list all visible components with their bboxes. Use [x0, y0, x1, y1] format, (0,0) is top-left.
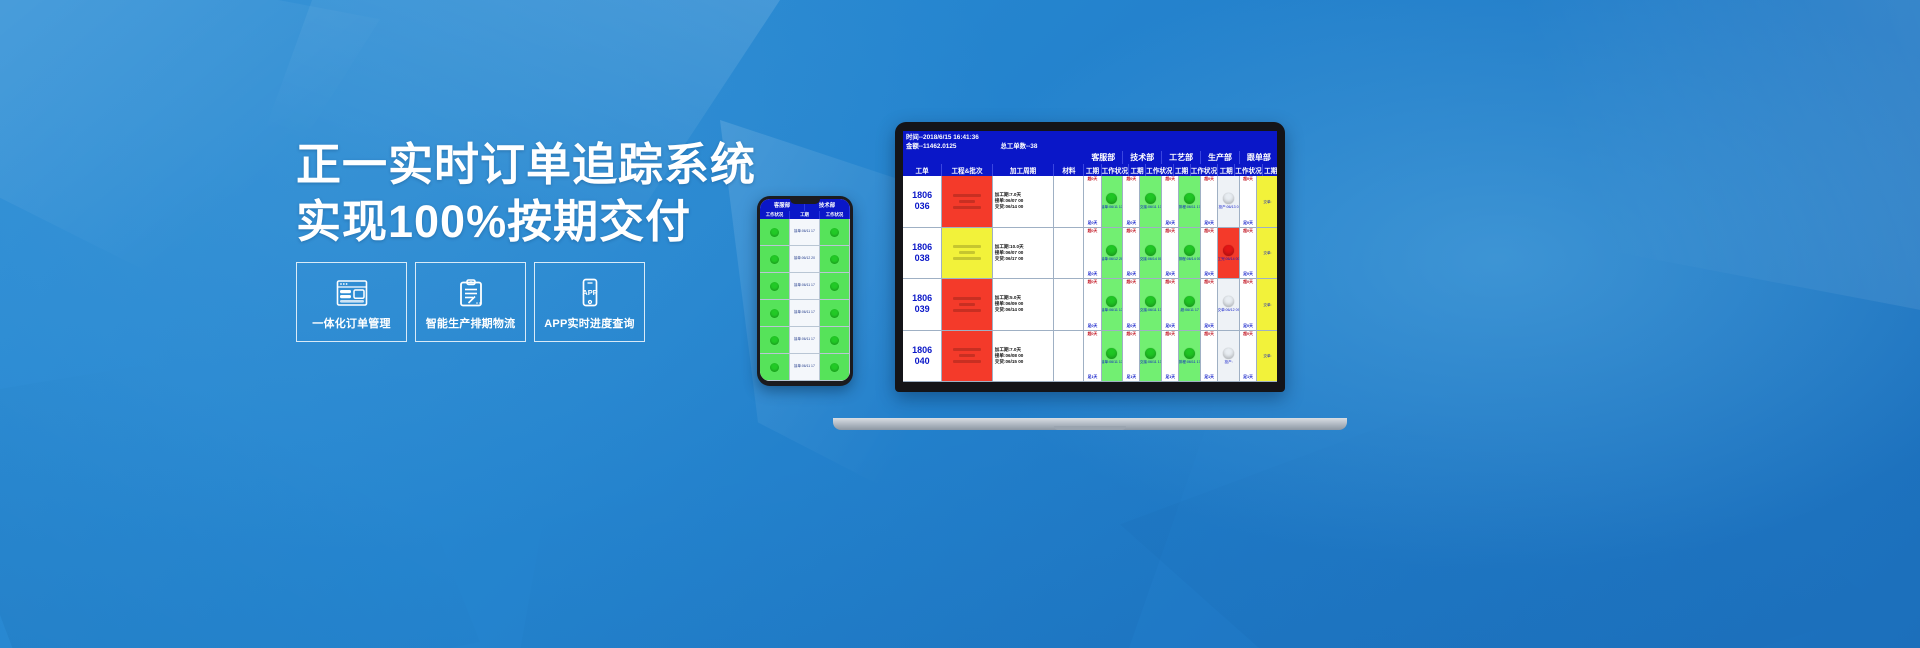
cell-duration-dept4[interactable]: 超0天足0天 [1201, 228, 1218, 279]
cell-duration-dept1[interactable]: 超0天足0天 [1084, 279, 1101, 330]
topbar-line-1: 时间--2018/6/15 16:41:36 [906, 132, 1274, 141]
phone-cell-tag: 接单:06/11 17 [793, 284, 816, 288]
cell-work-status-dept5[interactable]: 交单: [1257, 279, 1277, 330]
order-tracking-dashboard[interactable]: 时间--2018/6/15 16:41:36 金额--11462.0125 总工… [903, 131, 1277, 382]
duration-over: 超0天 [1243, 229, 1253, 234]
duration-over: 超0天 [1165, 332, 1175, 337]
cell-duration-dept5[interactable]: 超0天足0天 [1240, 176, 1257, 227]
cell-work-status-dept2[interactable]: 交接:06/14 00 [1140, 228, 1162, 279]
status-lamp-icon [1145, 296, 1156, 307]
feature-card-app-progress[interactable]: APP APP实时进度查询 [534, 262, 645, 342]
status-lamp-icon [830, 363, 839, 372]
cell-order-number[interactable]: 1806040 [903, 331, 942, 382]
phone-column-status-2 [820, 219, 850, 381]
status-note: 接单:06/11 17 [1102, 205, 1123, 209]
status-note: 交单:06/12 09 [1218, 308, 1239, 312]
status-note: 排程:06/11 17 [1179, 205, 1200, 209]
phone-cell[interactable] [760, 300, 789, 327]
order-number-top: 1806 [912, 190, 932, 201]
cell-work-status-dept4[interactable]: 投产: [1218, 331, 1240, 382]
status-lamp-icon [1145, 348, 1156, 359]
phone-cell-tag: 接单:06/11 17 [793, 365, 816, 369]
cell-order-number[interactable]: 1806039 [903, 279, 942, 330]
cell-material[interactable] [1054, 176, 1084, 227]
status-note: 交单: [1263, 251, 1271, 255]
status-note: 投产: [1224, 360, 1232, 364]
duration-over: 超0天 [1243, 332, 1253, 337]
cell-material[interactable] [1054, 228, 1084, 279]
status-lamp-icon [770, 282, 779, 291]
duration-over: 超0天 [1088, 177, 1098, 182]
project-text-blurred [953, 348, 981, 351]
status-note: 接单:06/11 17 [1102, 308, 1123, 312]
column-header-dept1-status: 工作状况 [1102, 164, 1129, 176]
duration-remaining: 足0天 [1088, 221, 1098, 226]
cell-work-status-dept1[interactable]: 接单:06/11 17 [1102, 331, 1124, 382]
feature-card-row: 一体化订单管理 智能生产排期物流 APP APP实时进度查询 [296, 262, 645, 342]
duration-remaining: 足0天 [1088, 324, 1098, 329]
duration-over: 超0天 [1204, 177, 1214, 182]
duration-remaining: 足0天 [1243, 324, 1253, 329]
laptop-lid: 时间--2018/6/15 16:41:36 金额--11462.0125 总工… [895, 122, 1285, 392]
cell-order-number[interactable]: 1806038 [903, 228, 942, 279]
cell-work-status-dept5[interactable]: 交单: [1257, 331, 1277, 382]
column-header-row: 工单工程&批次加工周期材料工期工作状况工期工作状况工期工作状况工期工作状况工期工… [903, 164, 1277, 176]
phone-cell-tag: 接单:06/11 17 [793, 230, 816, 234]
phone-data-grid[interactable]: 接单:06/11 17 接单:06/12 20 接单:06/11 17 接单:0… [760, 219, 850, 381]
cell-duration-dept2[interactable]: 超0天足0天 [1123, 228, 1140, 279]
project-text-blurred [953, 360, 981, 363]
topbar-line-2: 金额--11462.0125 总工单数--38 [906, 141, 1274, 150]
status-note: 交接:06/11 17 [1140, 308, 1161, 312]
cell-work-status-dept3[interactable]: 排程:06/11 17 [1179, 331, 1201, 382]
duration-remaining: 足0天 [1126, 272, 1136, 277]
department-header-3: 工艺部 [1162, 151, 1201, 164]
status-lamp-icon [770, 255, 779, 264]
duration-over: 超0天 [1243, 177, 1253, 182]
laptop-mockup: 时间--2018/6/15 16:41:36 金额--11462.0125 总工… [864, 122, 1316, 420]
cycle-line-3: 交货:06/15 00 [995, 359, 1024, 365]
status-lamp-icon [1184, 348, 1195, 359]
mobile-app-icon: APP [573, 278, 607, 308]
duration-over: 超0天 [1088, 332, 1098, 337]
duration-remaining: 足1天 [1126, 375, 1136, 380]
project-text-blurred [959, 251, 975, 254]
headline-block: 正一实时订单追踪系统 实现100%按期交付 [296, 136, 816, 250]
phone-cell[interactable]: 接单:06/11 17 [790, 273, 819, 300]
project-text-blurred [953, 245, 981, 248]
status-lamp-icon [1223, 245, 1234, 256]
table-row[interactable]: 1806039加工期:5.0天接单:06/09 00交货:06/14 00超0天… [903, 279, 1277, 331]
status-lamp-icon [770, 228, 779, 237]
phone-cell[interactable]: 接单:06/12 20 [790, 246, 819, 273]
status-lamp-icon [830, 336, 839, 345]
status-lamp-icon [1145, 193, 1156, 204]
status-lamp-icon [1223, 193, 1234, 204]
status-lamp-icon [830, 228, 839, 237]
duration-remaining: 足0天 [1243, 272, 1253, 277]
duration-remaining: 足0天 [1088, 272, 1098, 277]
department-header-5: 跟单部 [1240, 151, 1277, 164]
status-lamp-icon [1223, 348, 1234, 359]
dashboard-table-body[interactable]: 1806036加工期:7.0天接单:06/07 00交货:06/14 00超0天… [903, 176, 1277, 382]
status-note: 排程:06/11 17 [1179, 360, 1200, 364]
cell-work-status-dept5[interactable]: 交单: [1257, 176, 1277, 227]
project-text-blurred [953, 206, 981, 209]
cell-duration-dept3[interactable]: 超0天足0天 [1162, 228, 1179, 279]
phone-cell[interactable] [820, 354, 849, 381]
duration-over: 超0天 [1165, 280, 1175, 285]
duration-over: 超0天 [1126, 280, 1136, 285]
column-header-dept4-duration: 工期 [1218, 164, 1235, 176]
phone-cell[interactable] [760, 246, 789, 273]
cell-work-status-dept5[interactable]: 交单: [1257, 228, 1277, 279]
order-number-bottom: 040 [915, 356, 930, 367]
phone-cell[interactable] [760, 354, 789, 381]
dashboard-time-label: 时间--2018/6/15 16:41:36 [906, 132, 979, 141]
headline-line-2: 实现100%按期交付 [296, 193, 816, 250]
phone-cell[interactable]: 接单:06/11 17 [790, 300, 819, 327]
cell-work-status-dept4[interactable]: 工完:06/14 00 [1218, 228, 1240, 279]
duration-remaining: 足0天 [1165, 272, 1175, 277]
clipboard-schedule-icon [454, 278, 488, 308]
duration-remaining: 足0天 [1126, 324, 1136, 329]
duration-over: 超0天 [1126, 229, 1136, 234]
duration-remaining: 足1天 [1165, 375, 1175, 380]
status-note: 交接:06/11 17 [1140, 205, 1161, 209]
cycle-line-3: 交货:06/14 00 [995, 307, 1024, 313]
phone-cell[interactable] [820, 273, 849, 300]
order-number-top: 1806 [912, 293, 932, 304]
column-header-2: 工程&批次 [942, 164, 992, 176]
cell-work-status-dept2[interactable]: 交接:06/11 17 [1140, 279, 1162, 330]
background-polygon [0, 330, 480, 648]
status-lamp-icon [1145, 245, 1156, 256]
order-number-top: 1806 [912, 345, 932, 356]
column-header-dept5-duration: 工期 [1263, 164, 1277, 176]
status-note: 交接:06/11 17 [1140, 360, 1161, 364]
cell-duration-dept4[interactable]: 超0天足0天 [1201, 279, 1218, 330]
status-note: 交单: [1263, 303, 1271, 307]
cell-project-batch[interactable] [942, 176, 992, 227]
project-text-blurred [959, 354, 975, 357]
phone-cell[interactable] [820, 300, 849, 327]
cell-duration-dept2[interactable]: 超0天足0天 [1123, 176, 1140, 227]
cell-duration-dept3[interactable]: 超0天足0天 [1162, 279, 1179, 330]
cell-project-batch[interactable] [942, 331, 992, 382]
cell-processing-cycle[interactable]: 加工期:5.0天接单:06/09 00交货:06/14 00 [993, 279, 1055, 330]
cell-processing-cycle[interactable]: 加工期:7.0天接单:06/07 00交货:06/14 00 [993, 176, 1055, 227]
phone-cell[interactable]: 接单:06/11 17 [790, 354, 819, 381]
feature-label: 智能生产排期物流 [426, 315, 516, 331]
phone-cell[interactable] [820, 327, 849, 354]
phone-cell-tag: 接单:06/11 17 [793, 311, 816, 315]
status-note: 交单: [1263, 200, 1271, 204]
cell-duration-dept2[interactable]: 超0天足1天 [1123, 331, 1140, 382]
status-lamp-icon [1184, 296, 1195, 307]
cell-work-status-dept3[interactable]: 排程:06/14 00 [1179, 228, 1201, 279]
duration-remaining: 足0天 [1204, 324, 1214, 329]
duration-over: 超0天 [1126, 332, 1136, 337]
phone-cell[interactable] [820, 246, 849, 273]
order-number-bottom: 039 [915, 304, 930, 315]
dashboard-total-orders-label: 总工单数--38 [1000, 141, 1037, 150]
cell-work-status-dept4[interactable]: 交单:06/12 09 [1218, 279, 1240, 330]
status-note: 投产:06/13 0 [1218, 205, 1238, 209]
column-header-dept2-duration: 工期 [1129, 164, 1146, 176]
dashboard-layout-icon [335, 278, 369, 308]
table-row[interactable]: 1806038加工期:10.0天接单:06/07 00交货:06/17 00超0… [903, 228, 1277, 280]
duration-over: 超0天 [1204, 332, 1214, 337]
duration-remaining: 足1天 [1243, 375, 1253, 380]
duration-remaining: 足0天 [1243, 221, 1253, 226]
phone-frame: 客服部 技术部 工作状况 工期 工作状况 接单:06/11 17 [757, 196, 853, 386]
cell-duration-dept1[interactable]: 超0天足0天 [1084, 228, 1101, 279]
cell-order-number[interactable]: 1806036 [903, 176, 942, 227]
duration-remaining: 足0天 [1204, 221, 1214, 226]
phone-cell[interactable] [820, 219, 849, 246]
table-row[interactable]: 1806036加工期:7.0天接单:06/07 00交货:06/14 00超0天… [903, 176, 1277, 228]
cycle-line-3: 交货:06/17 00 [995, 256, 1024, 262]
duration-remaining: 足0天 [1165, 221, 1175, 226]
column-header-4: 材料 [1054, 164, 1084, 176]
phone-screen[interactable]: 客服部 技术部 工作状况 工期 工作状况 接单:06/11 17 [760, 199, 850, 381]
duration-remaining: 足0天 [1165, 324, 1175, 329]
status-note: 接单:06/11 17 [1102, 360, 1123, 364]
dashboard-table[interactable]: 客服部技术部工艺部生产部跟单部 工单工程&批次加工周期材料工期工作状况工期工作状… [903, 151, 1277, 382]
cell-work-status-dept4[interactable]: 投产:06/13 0 [1218, 176, 1240, 227]
status-note: 超:06/11 17 [1181, 308, 1199, 312]
cell-duration-dept1[interactable]: 超0天足0天 [1084, 176, 1101, 227]
status-note: 交接:06/14 00 [1140, 257, 1161, 261]
phone-notch [790, 199, 820, 204]
column-header-dept1-duration: 工期 [1084, 164, 1101, 176]
cell-work-status-dept1[interactable]: 接单:06/12 20 [1102, 228, 1124, 279]
project-text-blurred [953, 297, 981, 300]
status-note: 交单: [1263, 354, 1271, 358]
duration-remaining: 足0天 [1126, 221, 1136, 226]
status-lamp-icon [1106, 296, 1117, 307]
column-header-1: 工单 [903, 164, 942, 176]
phone-subcolumn-bar: 工作状况 工期 工作状况 [760, 211, 850, 219]
status-lamp-icon [830, 282, 839, 291]
duration-over: 超0天 [1243, 280, 1253, 285]
phone-cell-tag: 接单:06/11 17 [793, 338, 816, 342]
duration-over: 超0天 [1126, 177, 1136, 182]
status-lamp-icon [830, 309, 839, 318]
status-lamp-icon [1184, 245, 1195, 256]
phone-column-duration: 接单:06/11 17 接单:06/12 20 接单:06/11 17 接单:0… [790, 219, 820, 381]
column-header-dept2-status: 工作状况 [1146, 164, 1173, 176]
cycle-line-3: 交货:06/14 00 [995, 204, 1024, 210]
phone-col-duration: 工期 [790, 211, 820, 219]
status-lamp-icon [1223, 296, 1234, 307]
background-polygon [1360, 0, 1920, 380]
order-number-top: 1806 [912, 242, 932, 253]
cell-work-status-dept3[interactable]: 排程:06/11 17 [1179, 176, 1201, 227]
project-text-blurred [959, 200, 975, 203]
status-lamp-icon [1106, 245, 1117, 256]
department-header-row: 客服部技术部工艺部生产部跟单部 [903, 151, 1277, 164]
laptop-screen[interactable]: 时间--2018/6/15 16:41:36 金额--11462.0125 总工… [903, 131, 1277, 382]
feature-card-production-schedule[interactable]: 智能生产排期物流 [415, 262, 526, 342]
cell-duration-dept5[interactable]: 超0天足1天 [1240, 331, 1257, 382]
phone-mockup: 客服部 技术部 工作状况 工期 工作状况 接单:06/11 17 [757, 196, 853, 386]
project-text-blurred [959, 303, 975, 306]
phone-column-status-1 [760, 219, 790, 381]
cell-work-status-dept2[interactable]: 交接:06/11 17 [1140, 331, 1162, 382]
dashboard-topbar: 时间--2018/6/15 16:41:36 金额--11462.0125 总工… [903, 131, 1277, 151]
column-header-3: 加工周期 [993, 164, 1055, 176]
phone-cell[interactable]: 接单:06/11 17 [790, 219, 819, 246]
duration-over: 超0天 [1204, 229, 1214, 234]
cell-duration-dept3[interactable]: 超0天足1天 [1162, 331, 1179, 382]
duration-over: 超0天 [1165, 229, 1175, 234]
cell-project-batch[interactable] [942, 228, 992, 279]
cell-work-status-dept3[interactable]: 超:06/11 17 [1179, 279, 1201, 330]
phone-cell[interactable] [760, 273, 789, 300]
cell-work-status-dept2[interactable]: 交接:06/11 17 [1140, 176, 1162, 227]
status-note: 接单:06/12 20 [1102, 257, 1123, 261]
status-lamp-icon [770, 363, 779, 372]
cell-project-batch[interactable] [942, 279, 992, 330]
phone-cell[interactable]: 接单:06/11 17 [790, 327, 819, 354]
cell-material[interactable] [1054, 279, 1084, 330]
status-lamp-icon [1106, 193, 1117, 204]
column-header-dept4-status: 工作状况 [1235, 164, 1262, 176]
feature-label: APP实时进度查询 [544, 315, 634, 331]
feature-card-order-management[interactable]: 一体化订单管理 [296, 262, 407, 342]
laptop-base-notch [1054, 426, 1126, 430]
duration-remaining: 足1天 [1204, 375, 1214, 380]
duration-over: 超0天 [1088, 229, 1098, 234]
app-badge-text: APP [582, 288, 597, 297]
status-lamp-icon [770, 336, 779, 345]
department-header-spacer [903, 151, 1084, 164]
department-header-4: 生产部 [1201, 151, 1240, 164]
status-lamp-icon [1106, 348, 1117, 359]
order-number-bottom: 036 [915, 201, 930, 212]
cell-processing-cycle[interactable]: 加工期:7.0天接单:06/08 00交货:06/15 00 [993, 331, 1055, 382]
phone-cell-tag: 接单:06/12 20 [793, 257, 816, 261]
cell-duration-dept4[interactable]: 超0天足0天 [1201, 176, 1218, 227]
cell-duration-dept4[interactable]: 超0天足1天 [1201, 331, 1218, 382]
headline-line-1: 正一实时订单追踪系统 [296, 136, 816, 193]
cell-duration-dept1[interactable]: 超0天足1天 [1084, 331, 1101, 382]
duration-over: 超0天 [1165, 177, 1175, 182]
cell-duration-dept5[interactable]: 超0天足0天 [1240, 228, 1257, 279]
project-text-blurred [953, 309, 981, 312]
feature-label: 一体化订单管理 [312, 315, 390, 331]
status-lamp-icon [830, 255, 839, 264]
duration-over: 超0天 [1088, 280, 1098, 285]
cell-duration-dept3[interactable]: 超0天足0天 [1162, 176, 1179, 227]
status-note: 工完:06/14 00 [1218, 257, 1239, 261]
dashboard-amount-label: 金额--11462.0125 [906, 141, 956, 150]
department-header-1: 客服部 [1084, 151, 1123, 164]
cell-duration-dept5[interactable]: 超0天足0天 [1240, 279, 1257, 330]
column-header-dept3-duration: 工期 [1174, 164, 1191, 176]
phone-cell[interactable] [760, 219, 789, 246]
status-note: 排程:06/14 00 [1179, 257, 1200, 261]
phone-cell[interactable] [760, 327, 789, 354]
department-header-2: 技术部 [1123, 151, 1162, 164]
duration-remaining: 足1天 [1088, 375, 1098, 380]
cell-work-status-dept1[interactable]: 接单:06/11 17 [1102, 279, 1124, 330]
project-text-blurred [953, 257, 981, 260]
column-header-dept3-status: 工作状况 [1191, 164, 1218, 176]
cell-work-status-dept1[interactable]: 接单:06/11 17 [1102, 176, 1124, 227]
phone-col-status-2: 工作状况 [820, 211, 850, 219]
order-number-bottom: 038 [915, 253, 930, 264]
table-row[interactable]: 1806040加工期:7.0天接单:06/08 00交货:06/15 00超0天… [903, 331, 1277, 383]
duration-remaining: 足0天 [1204, 272, 1214, 277]
cell-material[interactable] [1054, 331, 1084, 382]
status-lamp-icon [1184, 193, 1195, 204]
cell-processing-cycle[interactable]: 加工期:10.0天接单:06/07 00交货:06/17 00 [993, 228, 1055, 279]
cell-duration-dept2[interactable]: 超0天足0天 [1123, 279, 1140, 330]
duration-over: 超0天 [1204, 280, 1214, 285]
status-lamp-icon [770, 309, 779, 318]
phone-col-status-1: 工作状况 [760, 211, 790, 219]
project-text-blurred [953, 194, 981, 197]
